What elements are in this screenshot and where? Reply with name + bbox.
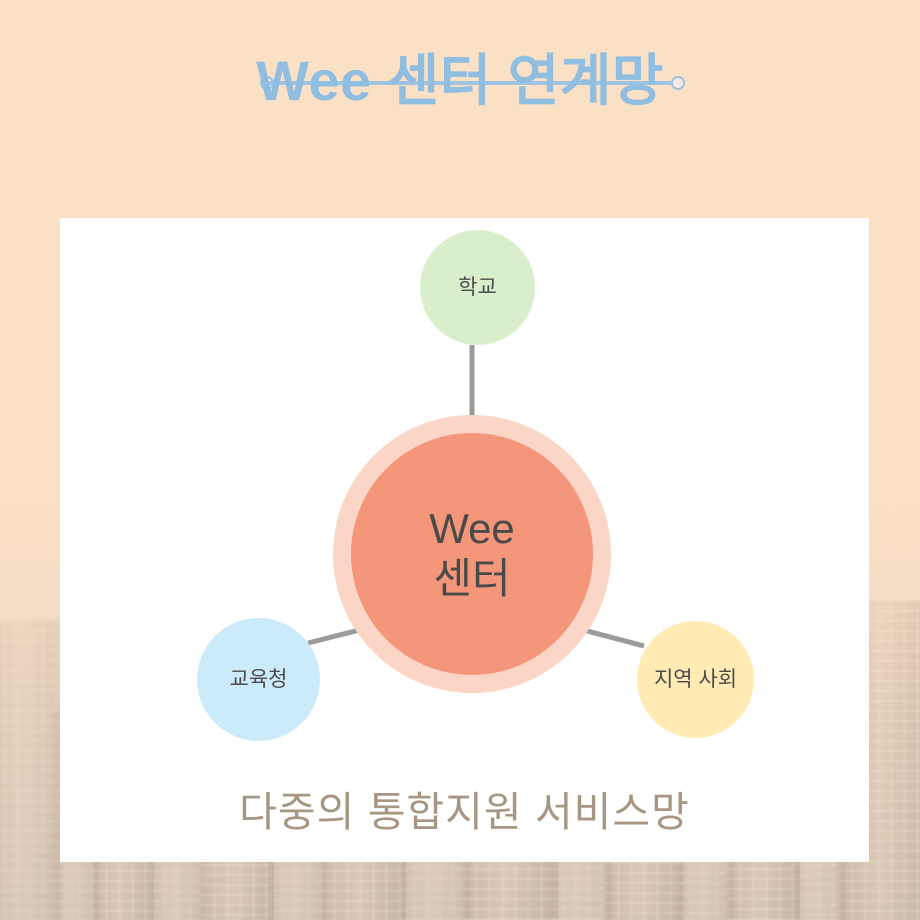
node-office-label: 교육청 xyxy=(230,667,288,692)
node-community-label-line1: 지역 xyxy=(654,668,693,691)
node-office[interactable]: 교육청 xyxy=(197,618,320,741)
node-center-label-line1: Wee xyxy=(429,504,515,554)
node-community[interactable]: 지역 사회 xyxy=(637,621,754,738)
network-diagram: 학교 교육청 지역 사회 Wee 센터 다중의 통합지원 서비스망 xyxy=(60,218,869,862)
diagram-panel: 학교 교육청 지역 사회 Wee 센터 다중의 통합지원 서비스망 xyxy=(60,218,869,862)
node-school[interactable]: 학교 xyxy=(420,230,535,345)
node-wee-center[interactable]: Wee 센터 xyxy=(351,433,593,675)
page-title: Wee 센터 연계망 xyxy=(0,52,920,111)
node-school-label: 학교 xyxy=(458,275,497,300)
diagram-caption: 다중의 통합지원 서비스망 xyxy=(60,778,869,838)
node-center-label-line2: 센터 xyxy=(429,554,515,604)
link-center-to-community xyxy=(557,623,644,646)
header: Wee 센터 연계망 xyxy=(0,52,920,111)
node-community-label-line2: 사회 xyxy=(698,668,737,691)
